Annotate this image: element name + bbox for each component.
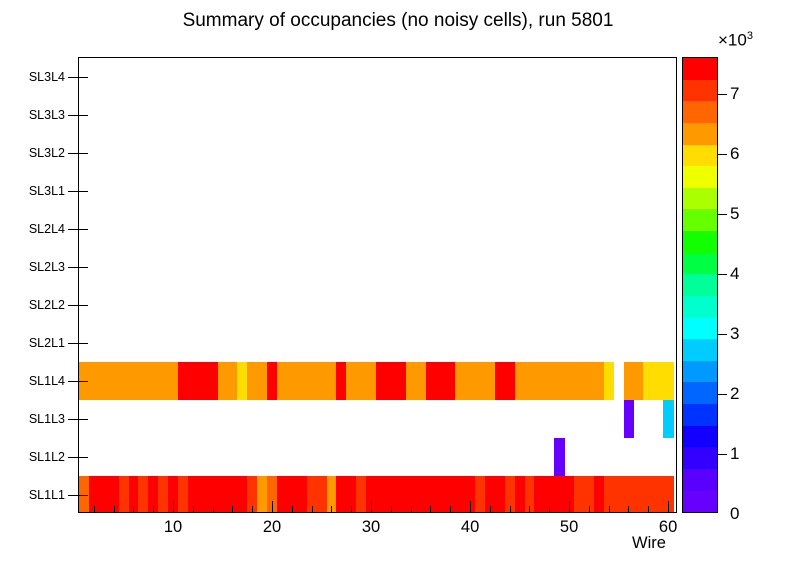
y-axis-tick-inner bbox=[79, 381, 88, 382]
heatmap-cell bbox=[614, 476, 624, 512]
heatmap-cell bbox=[663, 400, 673, 438]
heatmap-cell bbox=[148, 362, 158, 400]
x-axis-label-30: 30 bbox=[362, 518, 380, 537]
heatmap-cell bbox=[277, 362, 287, 400]
y-axis-label-sl1l4: SL1L4 bbox=[29, 374, 65, 388]
exponent-base: ×10 bbox=[718, 31, 747, 50]
heatmap-cell bbox=[287, 362, 297, 400]
x-axis-label-20: 20 bbox=[263, 518, 281, 537]
x-axis-minor-tick bbox=[312, 506, 313, 512]
heatmap-cell bbox=[495, 476, 505, 512]
heatmap-cell bbox=[366, 362, 376, 400]
y-axis-tick bbox=[68, 229, 79, 230]
color-scale-band bbox=[683, 491, 717, 513]
heatmap-cell bbox=[99, 362, 109, 400]
heatmap-cell bbox=[336, 362, 346, 400]
x-axis-minor-tick bbox=[133, 506, 134, 512]
x-axis-major-tick bbox=[470, 501, 471, 512]
heatmap-cell bbox=[188, 362, 198, 400]
heatmap-cell bbox=[317, 362, 327, 400]
color-scale-tick bbox=[717, 394, 727, 395]
x-axis-minor-tick bbox=[628, 506, 629, 512]
heatmap-cell bbox=[426, 362, 436, 400]
heatmap-cell bbox=[445, 362, 455, 400]
y-axis-tick-inner bbox=[79, 495, 88, 496]
color-scale-band bbox=[683, 166, 717, 188]
y-axis-tick-inner bbox=[79, 457, 88, 458]
color-scale-band bbox=[683, 253, 717, 275]
x-axis-minor-tick bbox=[589, 506, 590, 512]
color-scale-band bbox=[683, 231, 717, 253]
color-scale-tick bbox=[717, 454, 727, 455]
heatmap-cell bbox=[406, 362, 416, 400]
color-scale-band bbox=[683, 447, 717, 469]
heatmap-cell bbox=[515, 362, 525, 400]
heatmap-cell bbox=[564, 362, 574, 400]
y-axis-label-sl3l1: SL3L1 bbox=[29, 184, 65, 198]
heatmap-cell bbox=[663, 362, 673, 400]
heatmap-cell bbox=[475, 362, 485, 400]
color-scale-tick bbox=[717, 334, 727, 335]
x-axis-minor-tick bbox=[114, 506, 115, 512]
heatmap-cell bbox=[534, 476, 544, 512]
heatmap-cell bbox=[198, 362, 208, 400]
x-axis-title: Wire bbox=[632, 534, 666, 553]
color-scale-band bbox=[683, 318, 717, 340]
heatmap-cell bbox=[475, 476, 485, 512]
heatmap-cell bbox=[416, 476, 426, 512]
heatmap-cell bbox=[376, 362, 386, 400]
x-axis-minor-tick bbox=[232, 506, 233, 512]
heatmap-cell bbox=[624, 362, 634, 400]
heatmap-cell bbox=[317, 476, 327, 512]
heatmap-cell bbox=[584, 362, 594, 400]
heatmap-cell bbox=[604, 362, 614, 400]
x-axis-minor-tick bbox=[94, 506, 95, 512]
x-axis-minor-tick bbox=[529, 506, 530, 512]
heatmap-cell bbox=[633, 362, 643, 400]
heatmap-cell bbox=[218, 362, 228, 400]
y-axis-tick bbox=[68, 191, 79, 192]
heatmap-cell bbox=[267, 362, 277, 400]
y-axis-label-sl1l3: SL1L3 bbox=[29, 412, 65, 426]
x-axis-minor-tick bbox=[430, 506, 431, 512]
y-axis-tick-inner bbox=[79, 153, 88, 154]
heatmap-cell bbox=[138, 476, 148, 512]
heatmap-cell bbox=[307, 362, 317, 400]
x-axis-minor-tick bbox=[213, 506, 214, 512]
heatmap-cell bbox=[99, 476, 109, 512]
heatmap-cell bbox=[485, 362, 495, 400]
heatmap-cell bbox=[218, 476, 228, 512]
heatmap-cell bbox=[89, 362, 99, 400]
y-axis-label-sl3l4: SL3L4 bbox=[29, 70, 65, 84]
x-axis-minor-tick bbox=[153, 506, 154, 512]
heatmap-cell bbox=[624, 400, 634, 438]
x-axis-minor-tick bbox=[331, 506, 332, 512]
heatmap-cell bbox=[119, 476, 129, 512]
y-axis-tick bbox=[68, 343, 79, 344]
color-scale-band bbox=[683, 382, 717, 404]
y-axis-tick-inner bbox=[79, 77, 88, 78]
heatmap-cell bbox=[574, 476, 584, 512]
color-scale-tick bbox=[717, 274, 727, 275]
heatmap-cell bbox=[455, 476, 465, 512]
heatmap-cell bbox=[416, 362, 426, 400]
heatmap-cell bbox=[495, 362, 505, 400]
heatmap-cell bbox=[109, 362, 119, 400]
color-scale-band bbox=[683, 404, 717, 426]
x-axis-minor-tick bbox=[648, 506, 649, 512]
x-axis-minor-tick bbox=[510, 506, 511, 512]
y-axis-tick bbox=[68, 419, 79, 420]
color-scale-band bbox=[683, 274, 717, 296]
y-axis-tick bbox=[68, 495, 79, 496]
color-scale-band bbox=[683, 58, 717, 80]
x-axis-label-40: 40 bbox=[461, 518, 479, 537]
color-scale-exponent: ×103 bbox=[718, 30, 753, 51]
color-scale-band bbox=[683, 339, 717, 361]
y-axis-label-sl2l4: SL2L4 bbox=[29, 222, 65, 236]
y-axis-tick-inner bbox=[79, 191, 88, 192]
y-axis-tick-inner bbox=[79, 229, 88, 230]
heatmap-cell bbox=[297, 476, 307, 512]
y-axis-label-sl2l1: SL2L1 bbox=[29, 336, 65, 350]
y-axis-tick-inner bbox=[79, 115, 88, 116]
heatmap-cell bbox=[376, 476, 386, 512]
color-scale-band bbox=[683, 209, 717, 231]
color-scale-tick bbox=[717, 214, 727, 215]
y-axis-tick bbox=[68, 381, 79, 382]
y-axis-tick bbox=[68, 305, 79, 306]
x-axis-minor-tick bbox=[193, 506, 194, 512]
heatmap-cell bbox=[653, 362, 663, 400]
heatmap-cell bbox=[515, 476, 525, 512]
x-axis-minor-tick bbox=[252, 506, 253, 512]
heatmap-cell bbox=[138, 362, 148, 400]
heatmap-cell bbox=[396, 362, 406, 400]
heatmap-cell bbox=[386, 362, 396, 400]
color-scale-label-4: 4 bbox=[730, 264, 739, 284]
y-axis-tick bbox=[68, 457, 79, 458]
heatmap-cell bbox=[525, 362, 535, 400]
heatmap-cell bbox=[257, 362, 267, 400]
x-axis-minor-tick bbox=[450, 506, 451, 512]
heatmap-cell bbox=[297, 362, 307, 400]
heatmap-cell bbox=[633, 476, 643, 512]
heatmap-cell bbox=[653, 476, 663, 512]
color-scale-label-1: 1 bbox=[730, 444, 739, 464]
heatmap-cell bbox=[119, 362, 129, 400]
heatmap-cell bbox=[554, 362, 564, 400]
heatmap-cell bbox=[228, 362, 238, 400]
color-scale-band bbox=[683, 101, 717, 123]
page-title: Summary of occupancies (no noisy cells),… bbox=[0, 10, 796, 32]
heatmap-cell bbox=[327, 362, 337, 400]
plot-frame: SL1L1SL1L2SL1L3SL1L4SL2L1SL2L2SL2L3SL2L4… bbox=[78, 57, 677, 513]
color-scale-gradient bbox=[683, 58, 717, 512]
heatmap-cell bbox=[534, 362, 544, 400]
heatmap-cell bbox=[455, 362, 465, 400]
heatmap-cell bbox=[158, 362, 168, 400]
y-axis-label-sl1l2: SL1L2 bbox=[29, 450, 65, 464]
heatmap-cell bbox=[554, 438, 564, 476]
heatmap-cell bbox=[336, 476, 346, 512]
x-axis-label-50: 50 bbox=[560, 518, 578, 537]
y-axis-tick-inner bbox=[79, 305, 88, 306]
x-axis-major-tick bbox=[668, 501, 669, 512]
color-scale-label-5: 5 bbox=[730, 204, 739, 224]
heatmap-plot-area bbox=[79, 58, 676, 512]
heatmap-cell bbox=[247, 362, 257, 400]
x-axis-major-tick bbox=[569, 501, 570, 512]
x-axis-major-tick bbox=[173, 501, 174, 512]
color-scale-legend: 01234567 bbox=[682, 57, 718, 513]
y-axis-tick bbox=[68, 267, 79, 268]
heatmap-cell bbox=[129, 362, 139, 400]
x-axis-minor-tick bbox=[549, 506, 550, 512]
y-axis-label-sl3l2: SL3L2 bbox=[29, 146, 65, 160]
heatmap-cell bbox=[178, 362, 188, 400]
heatmap-cell bbox=[574, 362, 584, 400]
heatmap-cell bbox=[435, 476, 445, 512]
heatmap-cell bbox=[554, 476, 564, 512]
color-scale-label-0: 0 bbox=[730, 504, 739, 524]
y-axis-tick-inner bbox=[79, 267, 88, 268]
color-scale-band bbox=[683, 188, 717, 210]
exponent-power: 3 bbox=[747, 30, 753, 42]
heatmap-cell bbox=[237, 476, 247, 512]
y-axis-tick-inner bbox=[79, 419, 88, 420]
heatmap-cell bbox=[79, 476, 89, 512]
y-axis-label-sl1l1: SL1L1 bbox=[29, 488, 65, 502]
heatmap-cell bbox=[257, 476, 267, 512]
heatmap-cell bbox=[594, 362, 604, 400]
color-scale-band bbox=[683, 296, 717, 318]
y-axis-label-sl3l3: SL3L3 bbox=[29, 108, 65, 122]
heatmap-cell bbox=[396, 476, 406, 512]
heatmap-cell bbox=[465, 362, 475, 400]
y-axis-tick bbox=[68, 115, 79, 116]
heatmap-cell bbox=[643, 362, 653, 400]
x-axis-minor-tick bbox=[292, 506, 293, 512]
heatmap-cell bbox=[178, 476, 188, 512]
color-scale-band bbox=[683, 361, 717, 383]
x-axis-label-10: 10 bbox=[164, 518, 182, 537]
heatmap-cell bbox=[198, 476, 208, 512]
color-scale-band bbox=[683, 469, 717, 491]
color-scale-label-3: 3 bbox=[730, 324, 739, 344]
color-scale-band bbox=[683, 145, 717, 167]
color-scale-band bbox=[683, 426, 717, 448]
color-scale-label-7: 7 bbox=[730, 84, 739, 104]
heatmap-cell bbox=[356, 476, 366, 512]
x-axis-major-tick bbox=[272, 501, 273, 512]
color-scale-label-2: 2 bbox=[730, 384, 739, 404]
x-axis-minor-tick bbox=[490, 506, 491, 512]
heatmap-cell bbox=[208, 362, 218, 400]
color-scale-tick bbox=[717, 94, 727, 95]
x-axis-major-tick bbox=[371, 501, 372, 512]
heatmap-cell bbox=[505, 362, 515, 400]
heatmap-cell bbox=[237, 362, 247, 400]
x-axis-minor-tick bbox=[391, 506, 392, 512]
x-axis-minor-tick bbox=[411, 506, 412, 512]
color-scale-band bbox=[683, 80, 717, 102]
color-scale-label-6: 6 bbox=[730, 144, 739, 164]
y-axis-label-sl2l2: SL2L2 bbox=[29, 298, 65, 312]
x-axis-minor-tick bbox=[609, 506, 610, 512]
heatmap-cell bbox=[158, 476, 168, 512]
heatmap-cell bbox=[168, 362, 178, 400]
heatmap-cell bbox=[435, 362, 445, 400]
heatmap-cell bbox=[594, 476, 604, 512]
color-scale-tick bbox=[717, 154, 727, 155]
y-axis-label-sl2l3: SL2L3 bbox=[29, 260, 65, 274]
color-scale-band bbox=[683, 123, 717, 145]
heatmap-cell bbox=[544, 362, 554, 400]
root-canvas: Summary of occupancies (no noisy cells),… bbox=[0, 0, 796, 572]
heatmap-cell bbox=[356, 362, 366, 400]
y-axis-tick-inner bbox=[79, 343, 88, 344]
heatmap-cell bbox=[346, 362, 356, 400]
y-axis-tick bbox=[68, 153, 79, 154]
x-axis-minor-tick bbox=[351, 506, 352, 512]
heatmap-cell bbox=[277, 476, 287, 512]
y-axis-tick bbox=[68, 77, 79, 78]
